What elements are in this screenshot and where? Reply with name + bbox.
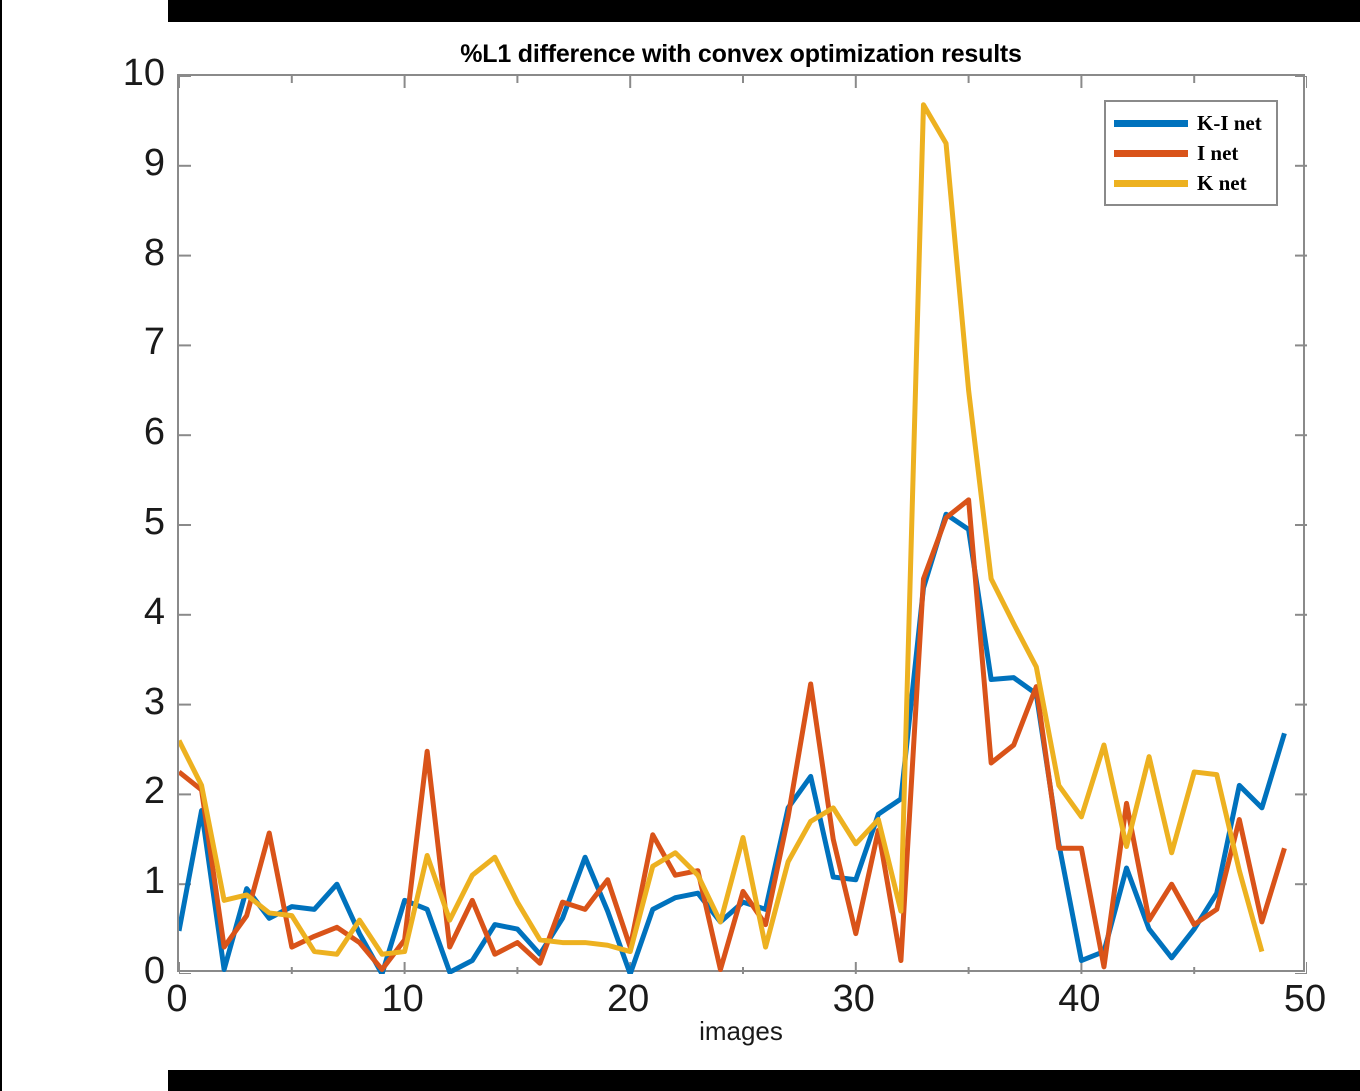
x-tick-label: 0 — [107, 980, 247, 1018]
series-line-k-i-net — [179, 514, 1284, 974]
y-tick-label: 2 — [45, 772, 165, 810]
legend-color-swatch — [1114, 180, 1188, 187]
x-tick-label: 30 — [784, 980, 924, 1018]
series-line-k-net — [179, 105, 1262, 955]
y-tick-label: 7 — [45, 323, 165, 361]
x-tick-label: 40 — [1009, 980, 1149, 1018]
legend-label: K net — [1197, 173, 1247, 194]
chart-legend: K-I netI netK net — [1104, 100, 1278, 206]
y-tick-label: 0 — [45, 952, 165, 990]
y-tick-label: 1 — [45, 862, 165, 900]
y-tick-label: 10 — [45, 54, 165, 92]
y-tick-label: 3 — [45, 683, 165, 721]
legend-color-swatch — [1114, 150, 1188, 157]
legend-color-swatch — [1114, 120, 1188, 127]
x-tick-label: 50 — [1235, 980, 1360, 1018]
y-tick-label: 5 — [45, 503, 165, 541]
legend-item-k-i-net[interactable]: K-I net — [1114, 108, 1270, 138]
plot-area — [177, 74, 1305, 972]
legend-label: I net — [1197, 143, 1238, 164]
matlab-figure: %L1 difference with convex optimization … — [0, 0, 1360, 1091]
legend-item-k-net[interactable]: K net — [1114, 168, 1270, 198]
y-tick-label: 4 — [45, 593, 165, 631]
y-tick-label: 9 — [45, 144, 165, 182]
screenshot-canvas: %L1 difference with convex optimization … — [0, 0, 1360, 1091]
x-tick-label: 20 — [558, 980, 698, 1018]
y-tick-label: 8 — [45, 234, 165, 272]
legend-label: K-I net — [1197, 113, 1262, 134]
legend-item-i-net[interactable]: I net — [1114, 138, 1270, 168]
x-axis-label: images — [177, 1016, 1305, 1047]
x-tick-label: 10 — [333, 980, 473, 1018]
chart-title: %L1 difference with convex optimization … — [177, 40, 1305, 69]
y-tick-label: 6 — [45, 413, 165, 451]
plot-svg — [179, 76, 1307, 974]
